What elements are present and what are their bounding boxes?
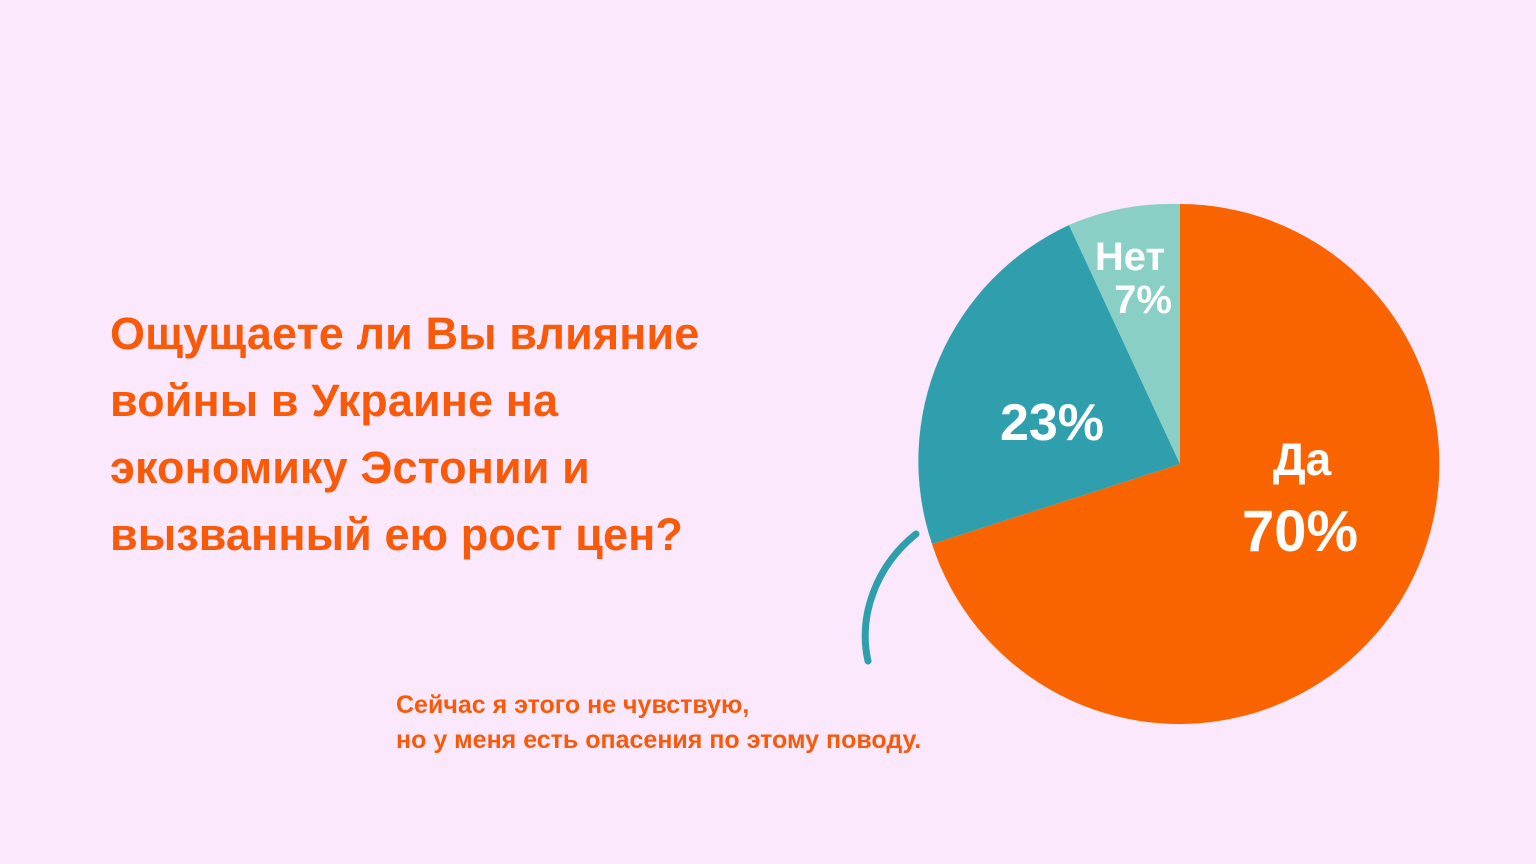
slice-label-da-word: Да xyxy=(1273,433,1332,485)
slice-label-da-value: 70% xyxy=(1242,499,1358,564)
slice-label-opaseniya-value: 23% xyxy=(1000,394,1104,452)
slice-label-net-word: Нет xyxy=(1095,235,1165,279)
slice-label-net-value: 7% xyxy=(1114,278,1172,322)
leader-arc-icon xyxy=(865,534,916,661)
pie-chart: Да 70% 23% Нет 7% xyxy=(0,0,1536,864)
slide-canvas: Ощущаете ли Вы влияние войны в Украине н… xyxy=(0,0,1536,864)
